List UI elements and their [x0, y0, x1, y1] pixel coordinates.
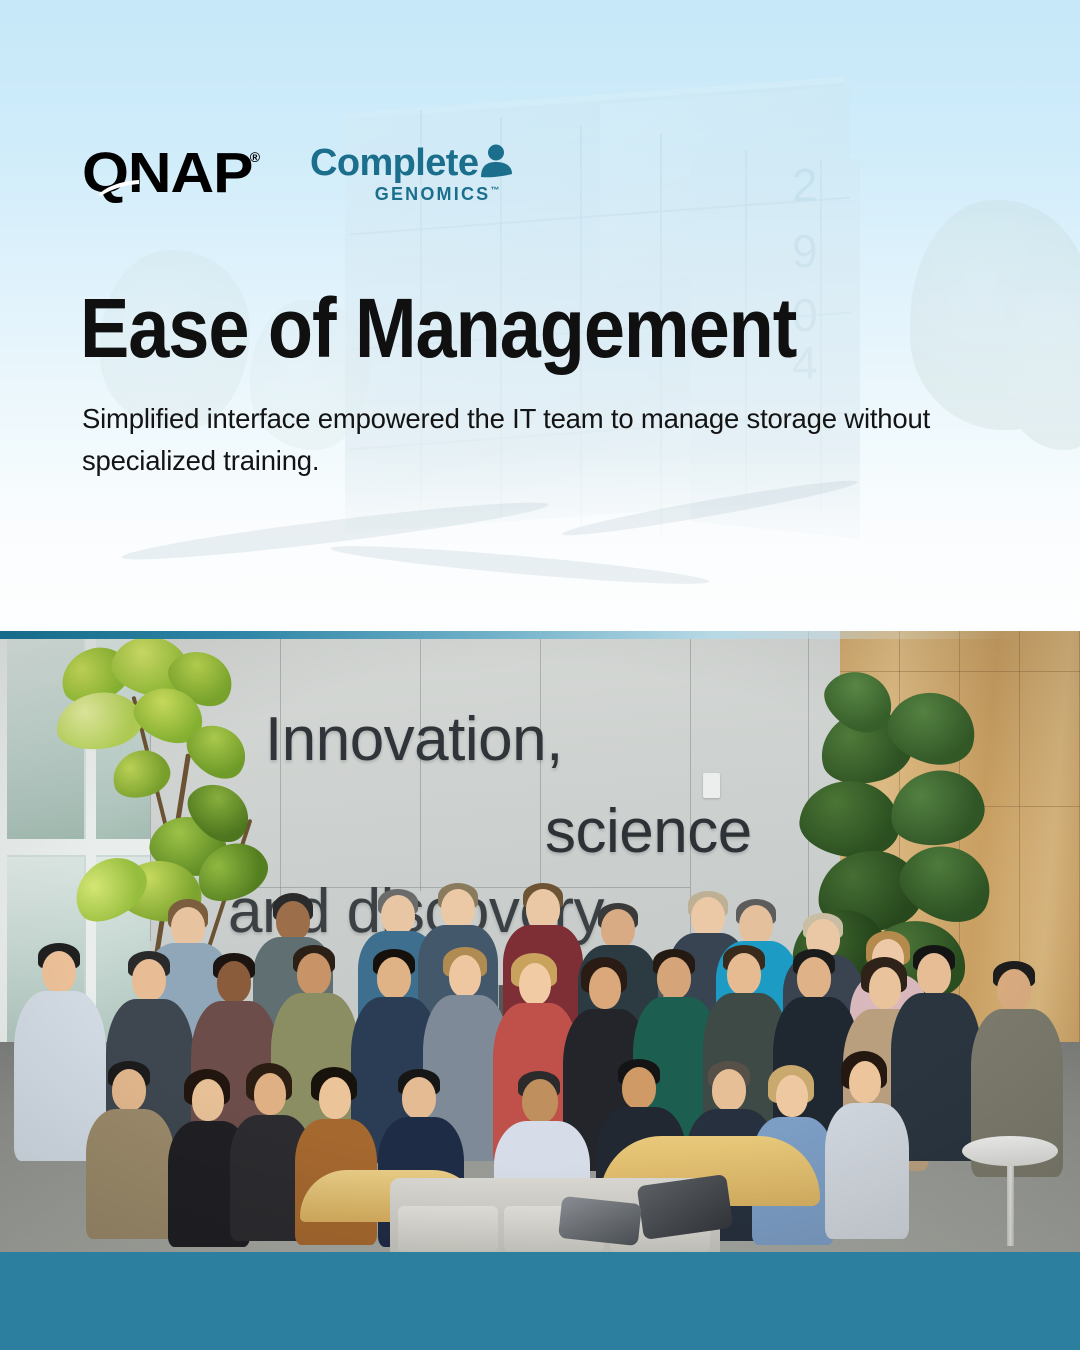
- qnap-wordmark: QNAP: [82, 145, 252, 202]
- building-number-2: 2: [792, 162, 818, 208]
- trademark-icon: ™: [490, 185, 499, 195]
- page-subtitle: Simplified interface empowered the IT te…: [82, 398, 962, 482]
- building-number-9: 9: [792, 228, 818, 274]
- group-photo: Innovation, science and discovery compel…: [0, 631, 1080, 1252]
- wall-text-line-1: Innovation,: [265, 709, 563, 771]
- qnap-logo[interactable]: QNAP ®: [82, 145, 260, 202]
- genomics-text: GENOMICS: [375, 184, 491, 204]
- wall-text-line-2: science: [545, 801, 752, 863]
- hero-section: 2 9 0 4 QNAP ® Complete: [0, 0, 1080, 631]
- complete-genomics-wordmark: Complete: [310, 144, 478, 182]
- photo-accent-bar: [0, 631, 1080, 639]
- page-title: Ease of Management: [80, 289, 796, 369]
- side-table: [962, 1136, 1058, 1166]
- side-table-leg: [1007, 1158, 1014, 1246]
- footer-bar: [0, 1252, 1080, 1350]
- logo-row: QNAP ® Complete GENOMICS™: [82, 143, 513, 203]
- duffel-bag: [558, 1196, 642, 1246]
- light-switch-plate: [703, 773, 720, 798]
- complete-genomics-subtitle: GENOMICS™: [375, 185, 500, 203]
- person-silhouette-icon: [479, 143, 513, 184]
- complete-genomics-logo[interactable]: Complete GENOMICS™: [310, 143, 513, 203]
